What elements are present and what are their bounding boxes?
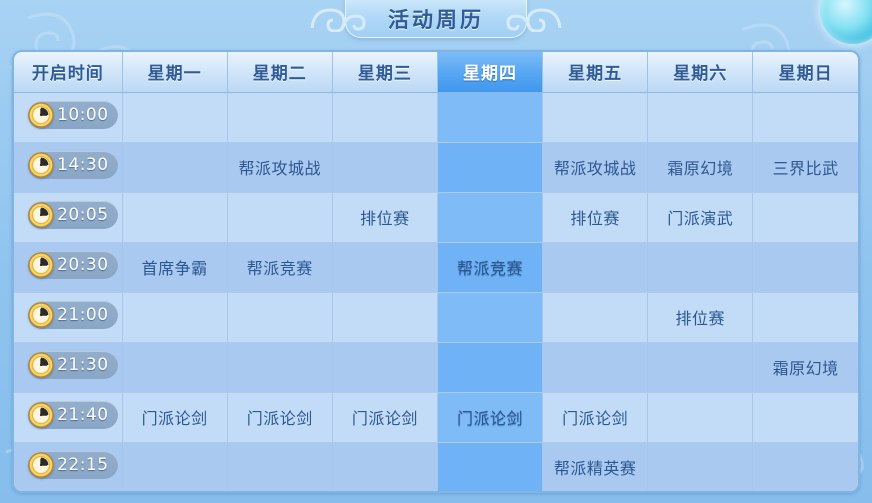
activity-cell-empty [227,442,332,492]
activity-schedule-table: 开启时间 星期一 星期二 星期三 星期四 星期五 星期六 星期日 10:00 [14,52,858,492]
clock-icon [27,351,55,379]
activity-cell-empty [122,92,227,142]
activity-cell-empty [332,92,437,142]
column-header-sunday[interactable]: 星期日 [753,52,858,92]
activity-cell[interactable]: 门派论剑 [227,392,332,442]
table-row: 20:05排位赛排位赛门派演武 [14,192,858,242]
activity-cell-empty [437,192,542,242]
activity-cell[interactable]: 门派论剑 [543,392,648,442]
activity-cell-empty [437,342,542,392]
time-pill: 21:30 [28,351,118,379]
activity-cell-empty [122,292,227,342]
clock-icon [27,201,55,229]
activity-cell-empty [753,92,858,142]
clock-icon [27,401,55,429]
time-pill: 20:05 [28,201,118,229]
activity-cell[interactable]: 首席争霸 [122,242,227,292]
title-banner: 活动周历 [302,0,570,42]
schedule-time-cell: 20:05 [14,192,122,242]
activity-cell-empty [543,342,648,392]
activity-cell[interactable]: 三界比武 [753,142,858,192]
time-pill: 21:40 [28,401,118,429]
time-label: 20:05 [56,207,109,224]
time-pill: 10:00 [28,101,118,129]
time-pill: 14:30 [28,151,118,179]
activity-cell-empty [648,242,753,292]
corner-orb-decoration [820,0,872,44]
activity-cell-empty [753,292,858,342]
table-row: 22:15帮派精英赛 [14,442,858,492]
activity-cell[interactable]: 帮派攻城战 [227,142,332,192]
clock-icon [27,301,55,329]
time-label: 14:30 [56,157,109,174]
activity-cell[interactable]: 门派论剑 [122,392,227,442]
table-row: 21:00排位赛 [14,292,858,342]
activity-cell-empty [648,92,753,142]
activity-cell[interactable]: 排位赛 [332,192,437,242]
activity-cell[interactable]: 帮派竞赛 [227,242,332,292]
activity-cell-empty [543,242,648,292]
column-header-time[interactable]: 开启时间 [14,52,122,92]
activity-cell-empty [122,442,227,492]
activity-cell[interactable]: 排位赛 [648,292,753,342]
activity-cell[interactable]: 霜原幻境 [753,342,858,392]
schedule-time-cell: 21:40 [14,392,122,442]
activity-cell-empty [753,442,858,492]
column-header-friday[interactable]: 星期五 [543,52,648,92]
activity-cell[interactable]: 帮派精英赛 [543,442,648,492]
activity-cell[interactable]: 门派论剑 [437,392,542,442]
schedule-time-cell: 21:00 [14,292,122,342]
activity-cell-empty [753,192,858,242]
activity-cell-empty [122,142,227,192]
activity-cell[interactable]: 排位赛 [543,192,648,242]
clock-icon [27,151,55,179]
schedule-time-cell: 22:15 [14,442,122,492]
activity-cell-empty [122,342,227,392]
time-pill: 21:00 [28,301,118,329]
time-pill: 22:15 [28,451,118,479]
cloud-swirl-right-icon [506,6,564,32]
activity-cell[interactable]: 帮派攻城战 [543,142,648,192]
activity-cell[interactable]: 帮派竞赛 [437,242,542,292]
activity-cell-empty [648,442,753,492]
time-label: 21:40 [56,407,109,424]
column-header-saturday[interactable]: 星期六 [648,52,753,92]
activity-cell-empty [543,92,648,142]
activity-cell-empty [122,192,227,242]
activity-cell-empty [543,292,648,342]
table-body: 10:00 14:30帮派攻城战帮派攻城战霜原幻境三界比武 20:05排位赛排位… [14,92,858,492]
column-header-thursday[interactable]: 星期四 [437,52,542,92]
time-label: 20:30 [56,257,109,274]
clock-icon [27,451,55,479]
schedule-time-cell: 10:00 [14,92,122,142]
schedule-time-cell: 20:30 [14,242,122,292]
activity-cell-empty [332,342,437,392]
activity-cell-empty [437,142,542,192]
table-row: 14:30帮派攻城战帮派攻城战霜原幻境三界比武 [14,142,858,192]
time-label: 22:15 [56,457,109,474]
column-header-tuesday[interactable]: 星期二 [227,52,332,92]
activity-cell-empty [227,92,332,142]
table-row: 20:30首席争霸帮派竞赛帮派竞赛 [14,242,858,292]
table-row: 10:00 [14,92,858,142]
activity-cell[interactable]: 门派演武 [648,192,753,242]
activity-cell-empty [437,92,542,142]
activity-cell-empty [648,392,753,442]
activity-cell-empty [227,292,332,342]
activity-cell-empty [437,442,542,492]
column-header-monday[interactable]: 星期一 [122,52,227,92]
schedule-time-cell: 21:30 [14,342,122,392]
activity-cell[interactable]: 门派论剑 [332,392,437,442]
cloud-swirl-left-icon [308,6,366,32]
clock-icon [27,251,55,279]
time-pill: 20:30 [28,251,118,279]
activity-calendar-panel: 开启时间 星期一 星期二 星期三 星期四 星期五 星期六 星期日 10:00 [12,50,860,493]
table-row: 21:30霜原幻境 [14,342,858,392]
activity-cell-empty [437,292,542,342]
activity-cell-empty [227,342,332,392]
activity-cell-empty [332,442,437,492]
activity-cell-empty [753,392,858,442]
activity-cell-empty [332,142,437,192]
activity-cell-empty [332,292,437,342]
time-label: 21:30 [56,357,109,374]
activity-cell-empty [753,242,858,292]
schedule-time-cell: 14:30 [14,142,122,192]
table-header: 开启时间 星期一 星期二 星期三 星期四 星期五 星期六 星期日 [14,52,858,92]
table-header-row: 开启时间 星期一 星期二 星期三 星期四 星期五 星期六 星期日 [14,52,858,92]
activity-cell-empty [227,192,332,242]
page-title: 活动周历 [388,4,484,37]
activity-cell-empty [648,342,753,392]
time-label: 10:00 [56,107,109,124]
time-label: 21:00 [56,307,109,324]
activity-cell-empty [332,242,437,292]
column-header-wednesday[interactable]: 星期三 [332,52,437,92]
clock-icon [27,101,55,129]
activity-cell[interactable]: 霜原幻境 [648,142,753,192]
table-row: 21:40门派论剑门派论剑门派论剑门派论剑门派论剑 [14,392,858,442]
